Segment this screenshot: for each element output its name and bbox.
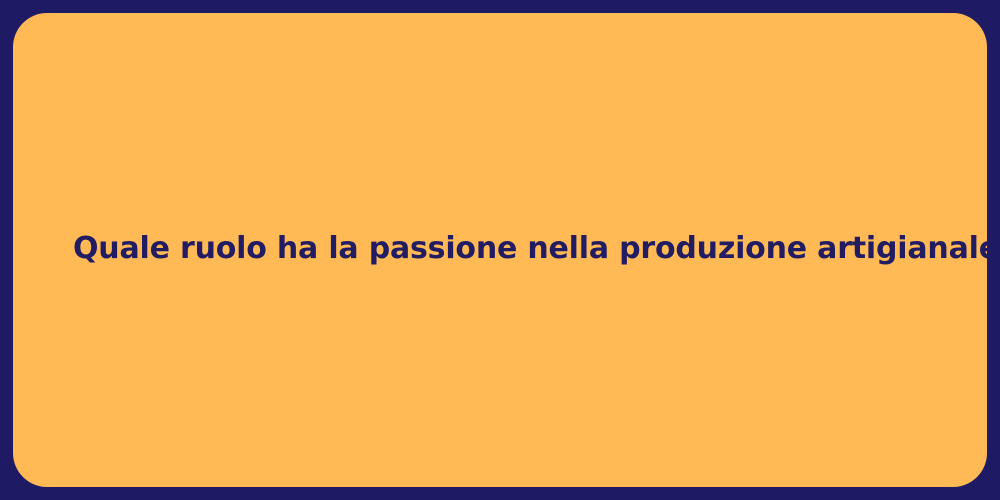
question-card-panel: Quale ruolo ha la passione nella produzi… bbox=[13, 13, 987, 487]
question-block: Quale ruolo ha la passione nella produzi… bbox=[13, 230, 987, 268]
question-card-frame: Quale ruolo ha la passione nella produzi… bbox=[0, 0, 1000, 500]
question-heading: Quale ruolo ha la passione nella produzi… bbox=[73, 230, 927, 268]
